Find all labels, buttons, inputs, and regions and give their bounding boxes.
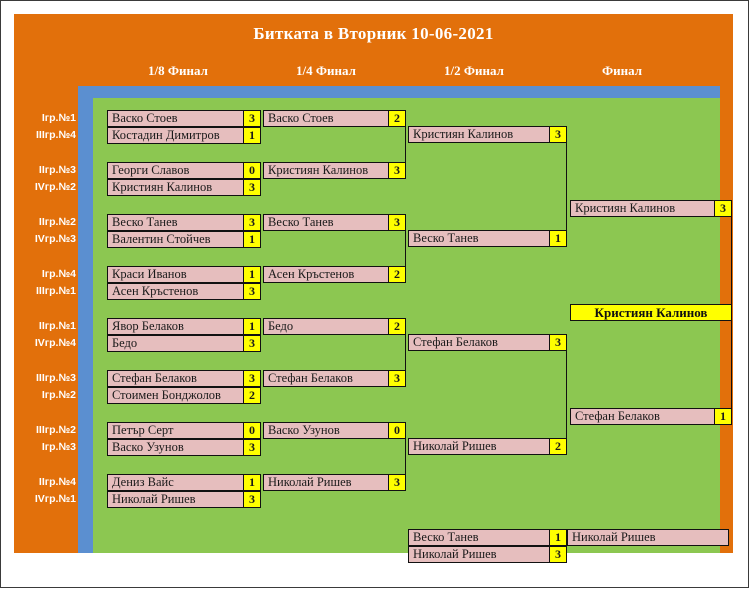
player-score: 3 — [714, 201, 731, 216]
panel-side-strip — [78, 86, 93, 553]
player-name: Кристиян Калинов — [409, 127, 549, 142]
tournament-poster: Биткатa в Вторник 10-06-2021 1/8 Финал 1… — [14, 14, 733, 553]
player-name: Васко Стоев — [108, 111, 243, 126]
player-name: Краси Иванов — [108, 267, 243, 282]
round2-slot: Кристиян Калинов3 — [263, 162, 406, 179]
round3-bracket-line — [566, 334, 567, 455]
seed-label: IVгр.№1 — [10, 493, 76, 505]
panel-top-strip — [78, 86, 720, 98]
seed-label: Iгр.№2 — [10, 389, 76, 401]
round1-slot: Валентин Стойчев1 — [107, 231, 261, 248]
champion-name: Кристиян Калинов — [595, 305, 708, 321]
seed-label: IIгр.№1 — [10, 320, 76, 332]
round1-slot: Васко Узунов3 — [107, 439, 261, 456]
final-slot: Стефан Белаков1 — [570, 408, 732, 425]
bracket-panel: Васко Стоев3Костадин Димитров1Георги Сла… — [93, 98, 720, 553]
player-name: Кристиян Калинов — [571, 201, 714, 216]
player-score: 0 — [243, 423, 260, 438]
player-score: 2 — [243, 388, 260, 403]
round2-slot: Николай Ришев3 — [263, 474, 406, 491]
third-place-slot: Николай Ришев3 — [408, 546, 567, 563]
round3-bracket-line — [566, 126, 567, 247]
player-score: 3 — [243, 492, 260, 507]
player-score: 1 — [549, 231, 566, 246]
round3-slot: Стефан Белаков3 — [408, 334, 567, 351]
player-name: Кристиян Калинов — [108, 180, 243, 195]
player-score: 3 — [243, 111, 260, 126]
round1-slot: Костадин Димитров1 — [107, 127, 261, 144]
round1-slot: Явор Белаков1 — [107, 318, 261, 335]
player-name: Николай Ришев — [409, 439, 549, 454]
seed-label: IVгр.№4 — [10, 337, 76, 349]
page-title: Биткатa в Вторник 10-06-2021 — [14, 24, 733, 44]
round1-slot: Георги Славов0 — [107, 162, 261, 179]
round2-slot: Асен Кръстенов2 — [263, 266, 406, 283]
round-header-final: Финал — [542, 63, 702, 79]
round2-slot: Бедо2 — [263, 318, 406, 335]
player-name: Асен Кръстенов — [264, 267, 388, 282]
player-name: Явор Белаков — [108, 319, 243, 334]
seed-label: Iгр.№3 — [10, 441, 76, 453]
round-header-quarter: 1/4 Финал — [246, 63, 406, 79]
round1-slot: Васко Стоев3 — [107, 110, 261, 127]
player-name: Николай Ришев — [568, 530, 728, 545]
seed-label: IIгр.№3 — [10, 164, 76, 176]
player-score: 3 — [243, 336, 260, 351]
player-name: Николай Ришев — [409, 547, 549, 562]
player-score: 3 — [388, 215, 405, 230]
round1-slot: Дениз Вайс1 — [107, 474, 261, 491]
seed-label: IIIгр.№4 — [10, 129, 76, 141]
player-score: 2 — [549, 439, 566, 454]
round-header-semi: 1/2 Финал — [394, 63, 554, 79]
player-score: 3 — [388, 475, 405, 490]
player-name: Николай Ришев — [108, 492, 243, 507]
round3-slot: Веско Танев1 — [408, 230, 567, 247]
player-score: 2 — [388, 111, 405, 126]
third-place-slot: Веско Танев1 — [408, 529, 567, 546]
round1-slot: Петър Серт0 — [107, 422, 261, 439]
round1-slot: Стоимен Бонджолов2 — [107, 387, 261, 404]
player-name: Дениз Вайс — [108, 475, 243, 490]
player-name: Веско Танев — [409, 530, 549, 545]
round1-slot: Краси Иванов1 — [107, 266, 261, 283]
player-score: 1 — [714, 409, 731, 424]
seed-label: IIгр.№4 — [10, 476, 76, 488]
player-name: Валентин Стойчев — [108, 232, 243, 247]
player-name: Васко Узунов — [108, 440, 243, 455]
player-score: 3 — [243, 371, 260, 386]
seed-label: Iгр.№4 — [10, 268, 76, 280]
player-score: 3 — [243, 284, 260, 299]
round1-slot: Николай Ришев3 — [107, 491, 261, 508]
seed-label: IVгр.№3 — [10, 233, 76, 245]
player-name: Веско Танев — [409, 231, 549, 246]
final-slot: Кристиян Калинов3 — [570, 200, 732, 217]
seed-label: IIгр.№2 — [10, 216, 76, 228]
round2-slot: Стефан Белаков3 — [263, 370, 406, 387]
round2-slot: Васко Узунов0 — [263, 422, 406, 439]
player-name: Стефан Белаков — [264, 371, 388, 386]
player-score: 3 — [549, 335, 566, 350]
player-score: 3 — [243, 180, 260, 195]
player-score: 2 — [388, 319, 405, 334]
round1-slot: Кристиян Калинов3 — [107, 179, 261, 196]
seed-label: IVгр.№2 — [10, 181, 76, 193]
player-name: Бедо — [264, 319, 388, 334]
round3-slot: Кристиян Калинов3 — [408, 126, 567, 143]
player-score: 1 — [243, 128, 260, 143]
round1-slot: Асен Кръстенов3 — [107, 283, 261, 300]
player-score: 3 — [243, 215, 260, 230]
seed-label: IIIгр.№2 — [10, 424, 76, 436]
player-name: Бедо — [108, 336, 243, 351]
player-name: Васко Стоев — [264, 111, 388, 126]
player-score: 3 — [243, 440, 260, 455]
player-score: 3 — [549, 547, 566, 562]
third-place-winner-slot: Николай Ришев — [567, 529, 729, 546]
player-name: Костадин Димитров — [108, 128, 243, 143]
round1-slot: Стефан Белаков3 — [107, 370, 261, 387]
player-score: 2 — [388, 267, 405, 282]
round1-slot: Веско Танев3 — [107, 214, 261, 231]
seed-label: Iгр.№1 — [10, 112, 76, 124]
player-score: 3 — [388, 163, 405, 178]
player-score: 0 — [243, 163, 260, 178]
player-name: Стоимен Бонджолов — [108, 388, 243, 403]
player-name: Петър Серт — [108, 423, 243, 438]
player-name: Георги Славов — [108, 163, 243, 178]
player-score: 3 — [388, 371, 405, 386]
player-score: 1 — [243, 475, 260, 490]
player-name: Стефан Белаков — [571, 409, 714, 424]
player-name: Кристиян Калинов — [264, 163, 388, 178]
player-name: Стефан Белаков — [409, 335, 549, 350]
player-name: Веско Танев — [108, 215, 243, 230]
player-score: 1 — [243, 267, 260, 282]
player-name: Веско Танев — [264, 215, 388, 230]
round-header-eighth: 1/8 Финал — [98, 63, 258, 79]
player-score: 1 — [549, 530, 566, 545]
seed-label: IIIгр.№1 — [10, 285, 76, 297]
player-name: Асен Кръстенов — [108, 284, 243, 299]
round3-slot: Николай Ришев2 — [408, 438, 567, 455]
player-score: 1 — [243, 232, 260, 247]
player-score: 1 — [243, 319, 260, 334]
player-name: Васко Узунов — [264, 423, 388, 438]
champion-box: Кристиян Калинов — [570, 304, 732, 321]
player-name: Николай Ришев — [264, 475, 388, 490]
player-score: 3 — [549, 127, 566, 142]
round1-slot: Бедо3 — [107, 335, 261, 352]
round2-slot: Веско Танев3 — [263, 214, 406, 231]
seed-label: IIIгр.№3 — [10, 372, 76, 384]
round2-slot: Васко Стоев2 — [263, 110, 406, 127]
player-score: 0 — [388, 423, 405, 438]
player-name: Стефан Белаков — [108, 371, 243, 386]
